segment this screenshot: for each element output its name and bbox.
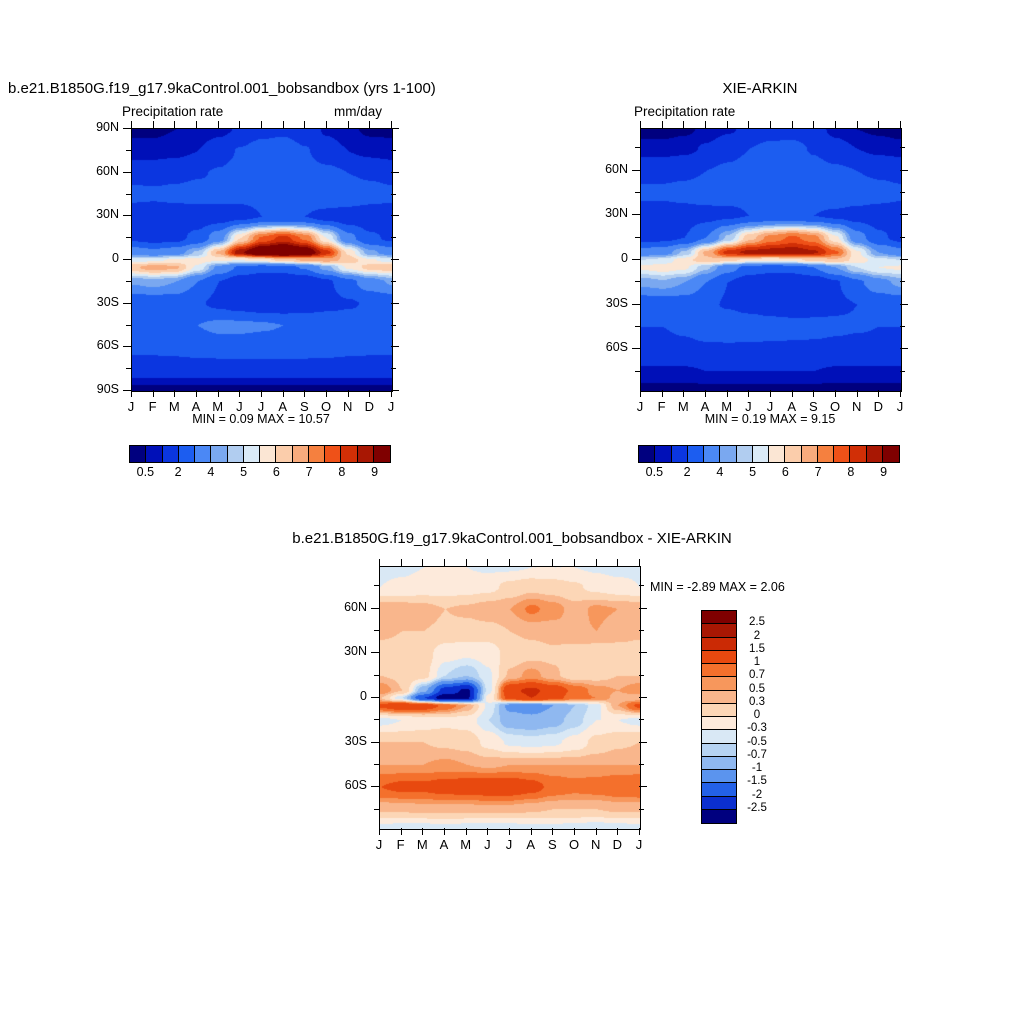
colorbar-cell [244,446,260,462]
colorbar-tick-label: 7 [291,465,327,479]
x-tickmark-top [552,559,553,566]
diff-contour-field [380,567,640,829]
colorbar-tick-label: -2.5 [739,802,775,814]
y-minor-tickmark-right [391,194,396,195]
x-tickmark-top [639,559,640,566]
y-tickmark [632,259,640,260]
y-minor-tickmark-right [391,237,396,238]
colorbar-tick-label: 2 [739,630,775,642]
y-minor-tickmark-right [639,585,644,586]
colorbar-cell [163,446,179,462]
colorbar-cell [293,446,309,462]
x-tickmark [487,828,488,835]
x-tickmark [369,390,370,397]
x-tickmark-top [379,559,380,566]
y-minor-tickmark [635,192,640,193]
colorbar-tick-label: 0.7 [739,669,775,681]
colorbar-tick-label: 0.3 [739,696,775,708]
x-tickmark [304,390,305,397]
x-tickmark-top [531,559,532,566]
x-tickmark [857,390,858,397]
x-tickmark [705,390,706,397]
x-tickmark [196,390,197,397]
y-minor-tickmark [374,809,379,810]
y-tickmark-right [639,697,647,698]
y-minor-tickmark [635,371,640,372]
y-minor-tickmark-right [639,630,644,631]
colorbar-cell [769,446,785,462]
colorbar-cell [802,446,818,462]
y-tickmark [123,172,131,173]
colorbar-tick-label: 8 [833,465,869,479]
y-tickmark [632,348,640,349]
x-tickmark [552,828,553,835]
y-minor-tickmark-right [639,719,644,720]
x-tickmark [218,390,219,397]
x-tick-label: J [499,837,519,852]
colorbar-cell [211,446,227,462]
colorbar-tick-label: -0.3 [739,722,775,734]
y-tickmark-right [900,259,908,260]
x-tickmark [617,828,618,835]
model-variable-label: Precipitation rate [122,104,223,119]
y-tickmark [371,652,379,653]
x-tickmark [878,390,879,397]
x-tickmark [574,828,575,835]
y-tickmark-right [391,303,399,304]
y-minor-tickmark [635,147,640,148]
x-tickmark-top [444,559,445,566]
y-minor-tickmark-right [900,237,905,238]
x-tickmark-top [487,559,488,566]
y-tickmark [123,346,131,347]
x-tick-label: J [629,837,649,852]
colorbar-tick-label: 0.5 [127,465,163,479]
y-minor-tickmark-right [900,371,905,372]
colorbar-cell [702,797,736,810]
y-minor-tickmark [126,325,131,326]
x-tickmark-top [878,121,879,128]
colorbar-cell [130,446,146,462]
y-minor-tickmark [635,326,640,327]
x-tickmark-top [218,121,219,128]
colorbar-tick-label: 6 [258,465,294,479]
x-tickmark-top [813,121,814,128]
y-tickmark [123,259,131,260]
x-tickmark-top [900,121,901,128]
colorbar-cell [146,446,162,462]
x-tickmark-top [727,121,728,128]
y-tickmark [123,390,131,391]
y-minor-tickmark-right [639,809,644,810]
x-tickmark [596,828,597,835]
x-tickmark [391,390,392,397]
x-tickmark-top [617,559,618,566]
model-minmax-label: MIN = 0.09 MAX = 10.57 [131,412,391,426]
x-tickmark [748,390,749,397]
x-tickmark-top [748,121,749,128]
y-minor-tickmark-right [639,764,644,765]
colorbar-cell [702,757,736,770]
y-minor-tickmark-right [900,147,905,148]
colorbar-cell [702,783,736,796]
x-tickmark [326,390,327,397]
x-tickmark [239,390,240,397]
colorbar-cell [260,446,276,462]
x-tickmark-top [596,559,597,566]
y-tick-label: 30S [586,296,628,310]
x-tickmark [640,390,641,397]
x-tickmark [770,390,771,397]
y-tickmark-right [900,214,908,215]
colorbar-tick-label: 0 [739,709,775,721]
colorbar-cell [834,446,850,462]
colorbar-cell [702,691,736,704]
y-tickmark [632,304,640,305]
y-tickmark [632,170,640,171]
y-tickmark [123,128,131,129]
y-tick-label: 0 [586,251,628,265]
colorbar-tick-label: -1.5 [739,775,775,787]
x-tickmark [835,390,836,397]
y-tick-label: 0 [325,689,367,703]
colorbar-cell [850,446,866,462]
y-minor-tickmark-right [900,326,905,327]
y-tickmark [371,608,379,609]
y-tick-label: 30S [77,295,119,309]
x-tickmark-top [422,559,423,566]
model-units-label: mm/day [334,104,382,119]
x-tickmark-top [662,121,663,128]
y-minor-tickmark-right [391,325,396,326]
y-minor-tickmark-right [900,192,905,193]
x-tickmark [662,390,663,397]
y-minor-tickmark-right [900,281,905,282]
x-tickmark-top [131,121,132,128]
y-tickmark-right [900,348,908,349]
colorbar-cell [702,810,736,823]
y-minor-tickmark-right [391,368,396,369]
x-tickmark-top [174,121,175,128]
x-tickmark [444,828,445,835]
obs-contour-field [641,129,901,391]
x-tickmark [401,828,402,835]
y-minor-tickmark [635,281,640,282]
colorbar-cell [702,611,736,624]
colorbar-tick-label: 2.5 [739,616,775,628]
colorbar-tick-label: 9 [357,465,393,479]
obs-plot-area[interactable] [640,128,902,392]
x-tickmark [153,390,154,397]
x-tick-label: F [391,837,411,852]
x-tickmark [683,390,684,397]
obs-colorbar[interactable] [638,445,900,463]
colorbar-cell [702,744,736,757]
colorbar-tick-label: 8 [324,465,360,479]
colorbar-tick-label: 5 [226,465,262,479]
colorbar-cell [702,717,736,730]
y-minor-tickmark [374,764,379,765]
y-tick-label: 60S [325,778,367,792]
y-tick-label: 30N [586,206,628,220]
colorbar-cell [374,446,390,462]
diff-plot-area[interactable] [379,566,641,830]
colorbar-tick-label: 6 [767,465,803,479]
x-tickmark-top [348,121,349,128]
y-tickmark [371,786,379,787]
y-tick-label: 30N [325,644,367,658]
x-tick-label: M [456,837,476,852]
y-tickmark-right [391,346,399,347]
model-plot-area[interactable] [131,128,393,392]
y-tick-label: 30N [77,207,119,221]
colorbar-cell [867,446,883,462]
x-tick-label: A [521,837,541,852]
x-tickmark-top [261,121,262,128]
colorbar-cell [358,446,374,462]
colorbar-tick-label: 4 [702,465,738,479]
y-minor-tickmark [374,675,379,676]
colorbar-cell [702,770,736,783]
x-tickmark [900,390,901,397]
x-tickmark-top [326,121,327,128]
x-tickmark [509,828,510,835]
colorbar-cell [702,624,736,637]
colorbar-tick-label: 7 [800,465,836,479]
colorbar-cell [195,446,211,462]
colorbar-cell [720,446,736,462]
x-tickmark-top [770,121,771,128]
colorbar-tick-label: 1 [739,656,775,668]
y-tick-label: 60S [586,340,628,354]
y-minor-tickmark [126,237,131,238]
y-tick-label: 60N [586,162,628,176]
x-tick-label: J [369,837,389,852]
colorbar-cell [883,446,899,462]
y-tick-label: 90S [77,382,119,396]
colorbar-tick-label: 1.5 [739,643,775,655]
model-colorbar[interactable] [129,445,391,463]
model-contour-field [132,129,392,391]
y-tickmark-right [639,608,647,609]
x-tickmark-top [857,121,858,128]
colorbar-tick-label: 0.5 [636,465,672,479]
colorbar-cell [688,446,704,462]
colorbar-tick-label: -0.5 [739,736,775,748]
x-tick-label: D [607,837,627,852]
y-minor-tickmark [126,194,131,195]
y-tickmark-right [391,390,399,391]
y-tickmark-right [391,172,399,173]
x-tickmark-top [196,121,197,128]
x-tickmark-top [574,559,575,566]
colorbar-cell [276,446,292,462]
colorbar-cell [702,704,736,717]
colorbar-cell [655,446,671,462]
x-tickmark [531,828,532,835]
colorbar-cell [702,664,736,677]
y-minor-tickmark [126,368,131,369]
x-tickmark-top [239,121,240,128]
x-tickmark-top [683,121,684,128]
x-tickmark [792,390,793,397]
x-tickmark [466,828,467,835]
colorbar-cell [309,446,325,462]
colorbar-tick-label: 0.5 [739,683,775,695]
colorbar-cell [702,677,736,690]
colorbar-cell [818,446,834,462]
colorbar-tick-label: 4 [193,465,229,479]
colorbar-cell [702,730,736,743]
x-tickmark-top [153,121,154,128]
x-tickmark [639,828,640,835]
y-minor-tickmark [374,719,379,720]
x-tickmark-top [705,121,706,128]
x-tick-label: O [564,837,584,852]
y-tick-label: 0 [77,251,119,265]
y-tick-label: 90N [77,120,119,134]
colorbar-cell [639,446,655,462]
colorbar-cell [179,446,195,462]
x-tickmark [283,390,284,397]
x-tickmark-top [391,121,392,128]
colorbar-tick-label: -2 [739,789,775,801]
model-panel-title: b.e21.B1850G.f19_g17.9kaControl.001_bobs… [8,80,508,97]
x-tickmark-top [304,121,305,128]
x-tickmark [261,390,262,397]
x-tickmark-top [369,121,370,128]
colorbar-tick-label: 2 [160,465,196,479]
colorbar-cell [753,446,769,462]
x-tick-label: N [586,837,606,852]
colorbar-tick-label: -0.7 [739,749,775,761]
y-tickmark [371,742,379,743]
y-tickmark [632,214,640,215]
colorbar-cell [702,651,736,664]
x-tickmark [379,828,380,835]
y-tickmark [123,303,131,304]
y-minor-tickmark [374,630,379,631]
y-tickmark-right [391,215,399,216]
diff-panel-title: b.e21.B1850G.f19_g17.9kaControl.001_bobs… [252,530,772,547]
obs-minmax-label: MIN = 0.19 MAX = 9.15 [640,412,900,426]
x-tickmark [174,390,175,397]
x-tickmark-top [466,559,467,566]
y-minor-tickmark [635,237,640,238]
x-tickmark-top [509,559,510,566]
y-tickmark [123,215,131,216]
colorbar-cell [325,446,341,462]
colorbar-cell [785,446,801,462]
obs-variable-label: Precipitation rate [634,104,735,119]
x-tick-label: J [477,837,497,852]
colorbar-cell [341,446,357,462]
x-tick-label: A [434,837,454,852]
x-tick-label: M [412,837,432,852]
y-minor-tickmark-right [391,281,396,282]
obs-panel-title: XIE-ARKIN [630,80,890,97]
x-tickmark [348,390,349,397]
x-tickmark-top [401,559,402,566]
y-tickmark-right [639,652,647,653]
x-tickmark [727,390,728,397]
y-tickmark-right [391,259,399,260]
colorbar-tick-label: -1 [739,762,775,774]
y-tickmark-right [391,128,399,129]
colorbar-cell [704,446,720,462]
y-tick-label: 60N [325,600,367,614]
x-tickmark-top [835,121,836,128]
colorbar-tick-label: 9 [866,465,902,479]
y-minor-tickmark [126,281,131,282]
colorbar-tick-label: 5 [735,465,771,479]
x-tickmark [131,390,132,397]
colorbar-cell [737,446,753,462]
x-tickmark [813,390,814,397]
y-minor-tickmark [374,585,379,586]
y-tickmark-right [639,786,647,787]
y-minor-tickmark-right [391,150,396,151]
y-tick-label: 60S [77,338,119,352]
y-tickmark-right [900,170,908,171]
x-tickmark-top [283,121,284,128]
diff-minmax-label: MIN = -2.89 MAX = 2.06 [650,580,840,594]
colorbar-cell [702,638,736,651]
x-tick-label: S [542,837,562,852]
x-tickmark-top [640,121,641,128]
y-tick-label: 30S [325,734,367,748]
colorbar-cell [228,446,244,462]
y-tickmark-right [900,304,908,305]
y-minor-tickmark-right [639,675,644,676]
y-tick-label: 60N [77,164,119,178]
y-minor-tickmark [126,150,131,151]
y-tickmark-right [639,742,647,743]
x-tickmark-top [792,121,793,128]
colorbar-cell [672,446,688,462]
x-tickmark [422,828,423,835]
diff-colorbar[interactable] [701,610,737,824]
y-tickmark [371,697,379,698]
colorbar-tick-label: 2 [669,465,705,479]
